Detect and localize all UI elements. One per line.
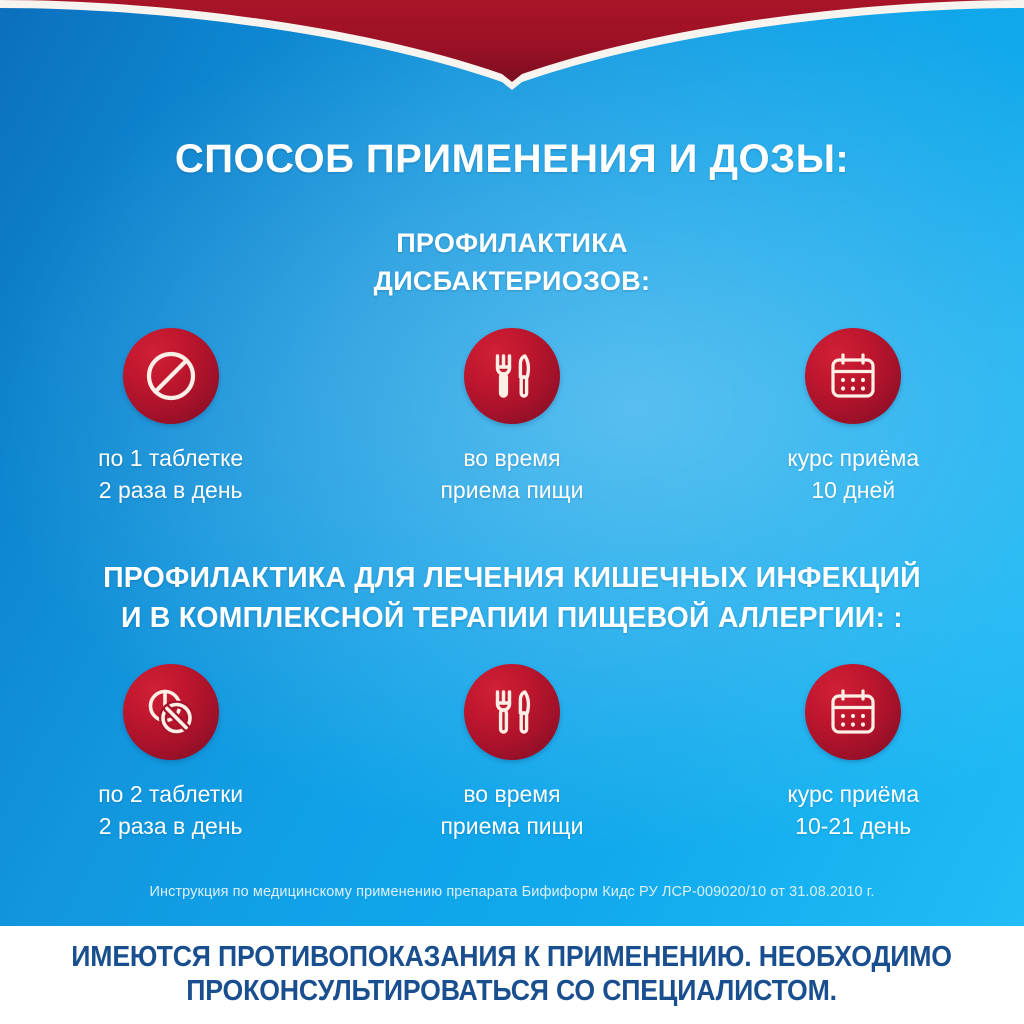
caption-line: курс приёма	[787, 443, 919, 475]
section-1-item-3: курс приёма 10 дней	[683, 328, 1024, 506]
section-2-item-1: по 2 таблетки 2 раза в день	[0, 664, 341, 842]
caption-line: по 1 таблетке	[98, 443, 243, 475]
section-2-item-2: во время приема пищи	[341, 664, 682, 842]
fork-knife-icon	[483, 683, 541, 741]
section-1-heading-line-1: ПРОФИЛАКТИКА	[0, 224, 1024, 262]
section-2-item-1-caption: по 2 таблетки 2 раза в день	[98, 779, 243, 842]
content-area: СПОСОБ ПРИМЕНЕНИЯ И ДОЗЫ: ПРОФИЛАКТИКА Д…	[0, 0, 1024, 926]
fineprint-source-note: Инструкция по медицинскому применению пр…	[0, 884, 1024, 900]
promo-infographic-page: СПОСОБ ПРИМЕНЕНИЯ И ДОЗЫ: ПРОФИЛАКТИКА Д…	[0, 0, 1024, 1024]
section-1-heading: ПРОФИЛАКТИКА ДИСБАКТЕРИОЗОВ:	[0, 224, 1024, 301]
section-2-item-3: курс приёма 10-21 день	[683, 664, 1024, 842]
page-title: СПОСОБ ПРИМЕНЕНИЯ И ДОЗЫ:	[0, 137, 1024, 181]
section-2-item-3-caption: курс приёма 10-21 день	[787, 779, 919, 842]
single-tablet-icon	[142, 347, 200, 405]
calendar-icon	[824, 683, 882, 741]
fork-knife-icon-badge	[464, 664, 560, 760]
caption-line: 10 дней	[787, 475, 919, 507]
caption-line: 10-21 день	[787, 811, 919, 843]
caption-line: во время	[440, 779, 583, 811]
caption-line: приема пищи	[440, 811, 583, 843]
section-1-icon-row: по 1 таблетке 2 раза в день	[0, 328, 1024, 506]
single-tablet-icon-badge	[123, 328, 219, 424]
calendar-icon-badge	[805, 328, 901, 424]
section-2-item-2-caption: во время приема пищи	[440, 779, 583, 842]
section-2-icon-row: по 2 таблетки 2 раза в день	[0, 664, 1024, 842]
section-1-item-3-caption: курс приёма 10 дней	[787, 443, 919, 506]
calendar-icon-badge	[805, 664, 901, 760]
caption-line: 2 раза в день	[98, 475, 243, 507]
section-2-heading: ПРОФИЛАКТИКА ДЛЯ ЛЕЧЕНИЯ КИШЕЧНЫХ ИНФЕКЦ…	[0, 558, 1024, 639]
caption-line: приема пищи	[440, 475, 583, 507]
section-2-heading-line-1: ПРОФИЛАКТИКА ДЛЯ ЛЕЧЕНИЯ КИШЕЧНЫХ ИНФЕКЦ…	[0, 558, 1024, 598]
calendar-icon	[824, 347, 882, 405]
section-1-heading-line-2: ДИСБАКТЕРИОЗОВ:	[0, 262, 1024, 300]
section-1-item-2-caption: во время приема пищи	[440, 443, 583, 506]
warning-line-2: ПРОКОНСУЛЬТИРОВАТЬСЯ СО СПЕЦИАЛИСТОМ.	[187, 975, 838, 1009]
fork-knife-icon	[483, 347, 541, 405]
caption-line: 2 раза в день	[98, 811, 243, 843]
warning-line-1: ИМЕЮТСЯ ПРОТИВОПОКАЗАНИЯ К ПРИМЕНЕНИЮ. Н…	[72, 941, 953, 975]
section-1-item-2: во время приема пищи	[341, 328, 682, 506]
section-1-item-1-caption: по 1 таблетке 2 раза в день	[98, 443, 243, 506]
caption-line: во время	[440, 443, 583, 475]
warning-banner: ИМЕЮТСЯ ПРОТИВОПОКАЗАНИЯ К ПРИМЕНЕНИЮ. Н…	[0, 926, 1024, 1024]
fork-knife-icon-badge	[464, 328, 560, 424]
double-tablet-icon	[142, 683, 200, 741]
double-tablet-icon-badge	[123, 664, 219, 760]
section-2-heading-line-2: И В КОМПЛЕКСНОЙ ТЕРАПИИ ПИЩЕВОЙ АЛЛЕРГИИ…	[0, 598, 1024, 638]
caption-line: курс приёма	[787, 779, 919, 811]
caption-line: по 2 таблетки	[98, 779, 243, 811]
section-1-item-1: по 1 таблетке 2 раза в день	[0, 328, 341, 506]
